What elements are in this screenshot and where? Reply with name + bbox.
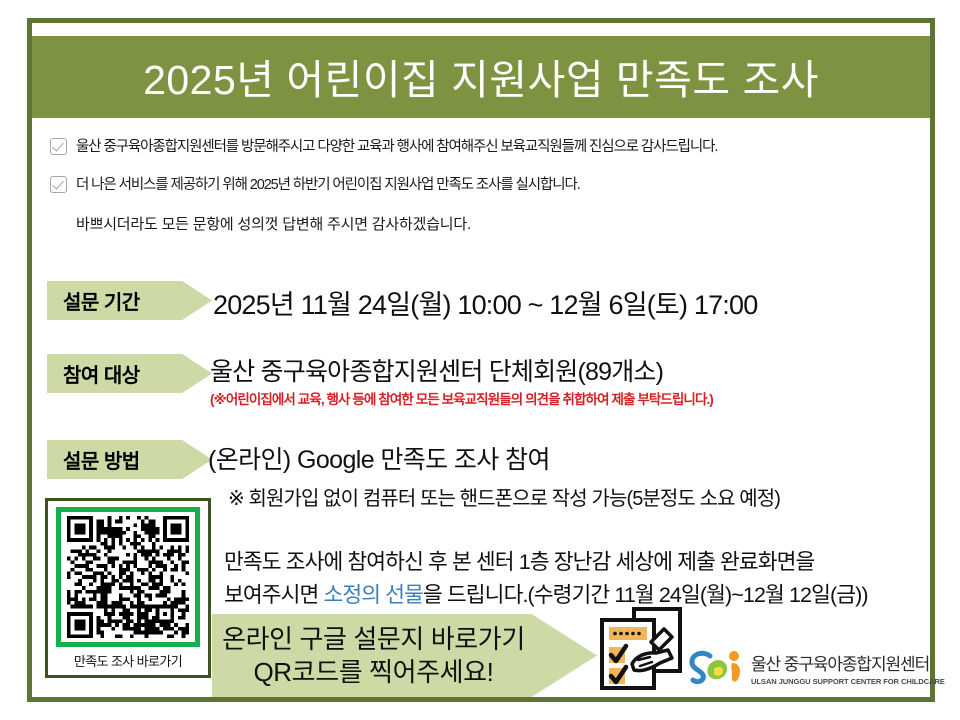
label-tag-participation-target: 참여 대상 [47,354,212,393]
value-participation-target: 울산 중구육아종합지원센터 단체회원(89개소) [210,352,663,388]
qr-code-block[interactable]: 만족도 조사 바로가기 [45,498,211,678]
survey-checklist-icon [594,606,692,700]
banner-line-2: QR코드를 찍어주세요! [253,656,493,689]
intro-bullet-1: 울산 중구육아종합지원센터를 방문해주시고 다양한 교육과 행사에 참여해주신 … [50,136,930,158]
gift-paragraph: 만족도 조사에 참여하신 후 본 센터 1층 장난감 세상에 제출 완료화면을 … [224,546,934,611]
logo-text-wrap: 울산 중구육아종합지원센터 ULSAN JUNGGU SUPPORT CENTE… [751,650,945,686]
banner-line-1: 온라인 구글 설문지 바로가기 [222,623,525,656]
checkbox-icon [50,138,67,155]
header-top-stripe [32,23,930,36]
gift-paragraph-line-1: 만족도 조사에 참여하신 후 본 센터 1층 장난감 세상에 제출 완료화면을 [224,546,934,579]
qr-call-to-action-banner: 온라인 구글 설문지 바로가기 QR코드를 찍어주세요! [212,614,597,697]
note-survey-method: ※ 회원가입 없이 컴퓨터 또는 핸드폰으로 작성 가능(5분정도 소요 예정) [228,482,780,511]
center-logo-icon [688,647,744,689]
poster-root: 2025년 어린이집 지원사업 만족도 조사 울산 중구육아종합지원센터를 방문… [0,0,960,720]
value-survey-period: 2025년 11월 24일(월) 10:00 ~ 12월 6일(토) 17:00 [213,283,757,322]
label-tag-survey-period: 설문 기간 [47,281,212,320]
intro-bullet-2-text: 더 나은 서비스를 제공하기 위해 2025년 하반기 어린이집 지원사업 만족… [76,174,580,196]
gift-highlight-text: 소정의 선물 [323,583,422,607]
gift-line2-after: 을 드립니다.(수령기간 11월 24일(월)~12월 12일(금)) [423,583,868,607]
intro-bullet-1-text: 울산 중구육아종합지원센터를 방문해주시고 다양한 교육과 행사에 참여해주신 … [76,136,717,158]
note-participation-target: (※어린이집에서 교육, 행사 등에 참여한 모든 보육교직원들의 의견을 취합… [210,388,713,408]
logo-subtitle: ULSAN JUNGGU SUPPORT CENTER FOR CHILDCAR… [751,677,945,686]
intro-section: 울산 중구육아종합지원센터를 방문해주시고 다양한 교육과 행사에 참여해주신 … [50,136,930,234]
checkbox-icon [50,176,67,193]
qr-code-icon[interactable] [65,516,191,638]
gift-paragraph-line-2: 보여주시면 소정의 선물을 드립니다.(수령기간 11월 24일(월)~12월 … [224,579,934,612]
intro-bullet-2: 더 나은 서비스를 제공하기 위해 2025년 하반기 어린이집 지원사업 만족… [50,174,930,196]
logo-title: 울산 중구육아종합지원센터 [751,650,945,675]
qr-code-frame [56,507,200,647]
label-tag-survey-method: 설문 방법 [47,440,212,479]
page-title: 2025년 어린이집 지원사업 만족도 조사 [32,40,930,112]
qr-code-caption: 만족도 조사 바로가기 [48,651,208,670]
value-survey-method: (온라인) Google 만족도 조사 참여 [208,440,550,476]
intro-bullet-2-subtext: 바쁘시더라도 모든 문항에 성의껏 답변해 주시면 감사하겠습니다. [76,213,930,234]
gift-line2-before: 보여주시면 [224,583,323,607]
footer-logo: 울산 중구육아종합지원센터 ULSAN JUNGGU SUPPORT CENTE… [688,642,938,694]
